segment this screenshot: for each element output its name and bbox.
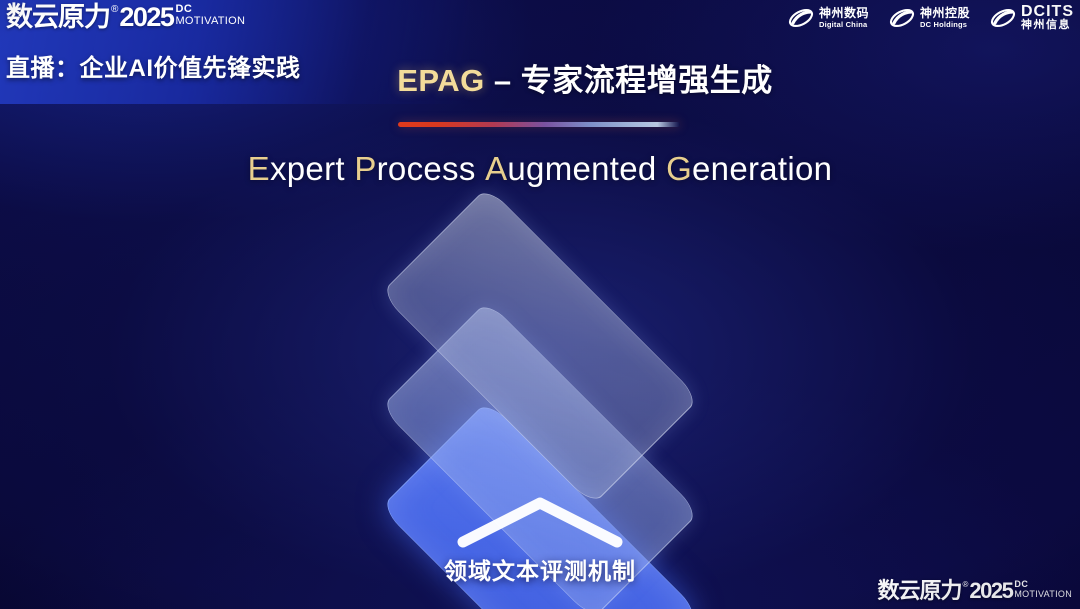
- subtitle-word-expert: xpert: [270, 150, 345, 187]
- brand-logo-dc-block: DC MOTIVATION: [175, 4, 245, 27]
- swoosh-icon: [889, 7, 915, 29]
- swoosh-icon: [788, 7, 814, 29]
- subtitle-word-process: rocess: [377, 150, 476, 187]
- title-separator: –: [485, 63, 521, 98]
- partner-name-cn: 神州控股: [920, 7, 970, 19]
- presentation-slide: 数云原力 ® 2025 DC MOTIVATION 直播：企业AI价值先锋实践 …: [0, 0, 1080, 609]
- watermark-cn: 数云原力: [877, 578, 961, 603]
- partner-name-en: Digital China: [819, 21, 869, 29]
- subtitle-initial-a: A: [485, 150, 507, 187]
- partner-name-en: DC Holdings: [920, 21, 970, 29]
- partner-name-en: 神州信息: [1021, 20, 1074, 31]
- partner-logo-text: DCITS 神州信息: [1021, 4, 1074, 31]
- watermark-motivation: MOTIVATION: [1014, 590, 1072, 599]
- layer-plate-top: [380, 186, 699, 505]
- watermark-dc-block: DC MOTIVATION: [1014, 580, 1072, 599]
- partner-logos: 神州数码 Digital China 神州控股 DC Holdings DCIT…: [788, 4, 1074, 31]
- brand-logo-motivation: MOTIVATION: [175, 16, 245, 27]
- title-chinese: 专家流程增强生成: [521, 63, 773, 98]
- brand-logo-cn: 数云原力: [6, 2, 110, 32]
- subtitle-initial-p: P: [354, 150, 376, 187]
- partner-logo-text: 神州数码 Digital China: [819, 7, 869, 29]
- subtitle-initial-e: E: [248, 150, 270, 187]
- layered-architecture-diagram: 领域文本评测机制 Dynamic MOE 长文本记忆 三类语义建模模块: [236, 222, 844, 582]
- title-acronym: EPAG: [397, 63, 485, 98]
- subtitle-word-augmented: ugmented: [507, 150, 656, 187]
- partner-name-cn: DCITS: [1021, 4, 1074, 20]
- watermark-logo: 数云原力 ® 2025 DC MOTIVATION: [877, 578, 1072, 603]
- partner-logo-text: 神州控股 DC Holdings: [920, 7, 970, 29]
- watermark-registered: ®: [962, 580, 968, 590]
- partner-logo-dcits: DCITS 神州信息: [990, 4, 1074, 31]
- brand-logo-year: 2025: [119, 2, 173, 32]
- subtitle-initial-g: G: [666, 150, 692, 187]
- slide-title: EPAG – 专家流程增强生成: [0, 55, 1080, 100]
- subtitle-word-generation: eneration: [692, 150, 832, 187]
- brand-logo-registered: ®: [111, 4, 118, 16]
- slide-subtitle: Expert Process Augmented Generation: [0, 150, 1080, 188]
- brand-logo-dc: DC: [175, 4, 245, 15]
- brand-logo: 数云原力 ® 2025 DC MOTIVATION: [6, 2, 245, 32]
- partner-logo-digital-china: 神州数码 Digital China: [788, 7, 869, 29]
- chevron-up-icon: [453, 490, 627, 554]
- partner-logo-dc-holdings: 神州控股 DC Holdings: [889, 7, 970, 29]
- swoosh-icon: [990, 7, 1016, 29]
- gradient-divider: [398, 122, 680, 127]
- diagram-layer-top[interactable]: [236, 196, 844, 496]
- watermark-dc: DC: [1014, 580, 1072, 589]
- partner-name-cn: 神州数码: [819, 7, 869, 19]
- watermark-year: 2025: [969, 578, 1012, 603]
